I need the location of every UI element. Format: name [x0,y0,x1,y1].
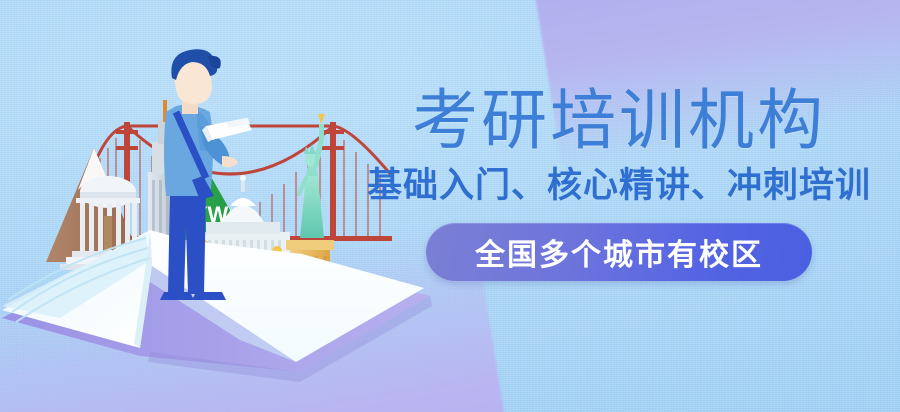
promo-banner: LLYWO [0,0,900,412]
banner-subtitle: 基础入门、核心精讲、冲刺培训 [352,166,886,205]
cta-container: 全国多个城市有校区 [352,223,886,281]
banner-copy: 考研培训机构 基础入门、核心精讲、冲刺培训 全国多个城市有校区 [352,86,886,281]
cta-button[interactable]: 全国多个城市有校区 [426,223,812,281]
banner-title: 考研培训机构 [352,86,886,156]
